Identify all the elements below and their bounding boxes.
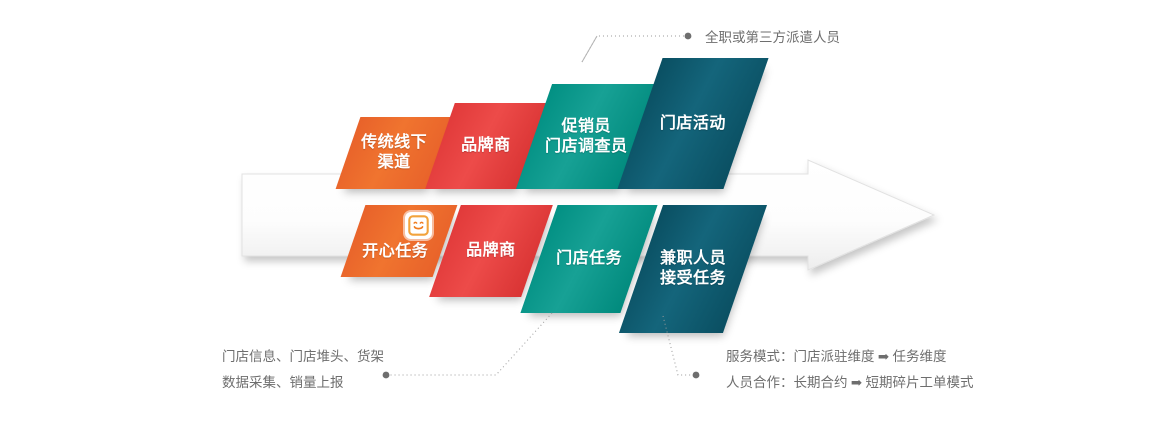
annotation-bottom-left-line-2: 数据采集、销量上报 <box>222 370 384 396</box>
top-step-3-label: 促销员 门店调查员 <box>545 117 628 156</box>
annotation-top-right-line-1: 全职或第三方派遣人员 <box>705 25 840 51</box>
bottom-step-4-label: 兼职人员 接受任务 <box>660 249 726 288</box>
smiley-face-icon <box>405 212 432 239</box>
top-step-2-label: 品牌商 <box>461 136 511 156</box>
bottom-step-2-label: 品牌商 <box>466 241 516 261</box>
top-step-4-label: 门店活动 <box>660 114 726 134</box>
annotation-bottom-left-line-1: 门店信息、门店堆头、货架 <box>222 344 384 370</box>
annotation-top-right: 全职或第三方派遣人员 <box>705 25 840 51</box>
bottom-step-3-label: 门店任务 <box>556 249 622 269</box>
annotation-bottom-left: 门店信息、门店堆头、货架 数据采集、销量上报 <box>222 344 384 395</box>
annotation-bottom-right-line-1: 服务模式：门店派驻维度 ➡ 任务维度 <box>726 344 974 370</box>
diagram-canvas: 传统线下 渠道 品牌商 促销员 门店调查员 门店活动 开心任务 品牌商 门店任务… <box>0 0 1150 430</box>
leader-dot-top-right <box>685 33 692 40</box>
leader-bottom-left <box>389 313 552 375</box>
leader-dot-bottom-right <box>693 372 700 379</box>
annotation-bottom-right: 服务模式：门店派驻维度 ➡ 任务维度 人员合作：长期合约 ➡ 短期碎片工单模式 <box>726 344 974 395</box>
bottom-step-1-label: 开心任务 <box>362 242 428 262</box>
annotation-bottom-right-line-2: 人员合作：长期合约 ➡ 短期碎片工单模式 <box>726 370 974 396</box>
top-step-1-label: 传统线下 渠道 <box>361 133 427 172</box>
